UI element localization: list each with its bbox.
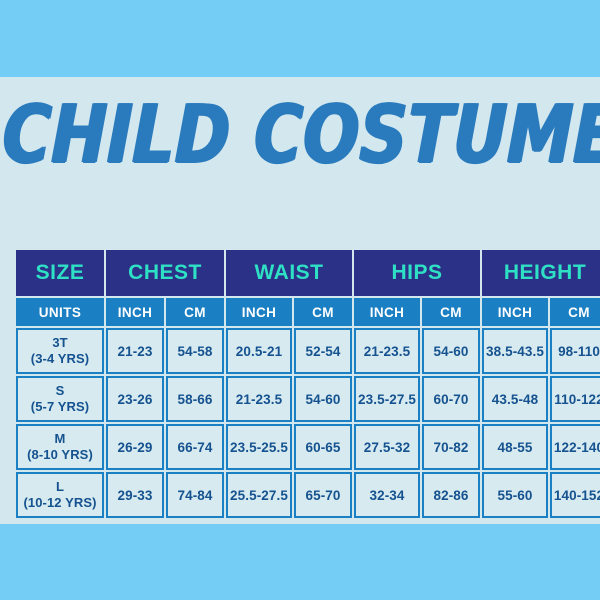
cell-size: S (5-7 YRS) (16, 376, 104, 422)
cell-height-inch: 48-55 (482, 424, 548, 470)
group-header-height: HEIGHT (482, 250, 600, 296)
table-row: 3T (3-4 YRS) 21-23 54-58 20.5-21 52-54 2… (16, 328, 600, 374)
cell-height-inch: 38.5-43.5 (482, 328, 548, 374)
cell-hips-cm: 60-70 (422, 376, 480, 422)
cell-height-cm: 140-152 (550, 472, 600, 518)
cell-height-cm: 98-110 (550, 328, 600, 374)
size-label: M (18, 431, 102, 447)
group-header-chest: CHEST (106, 250, 224, 296)
size-label: 3T (18, 335, 102, 351)
units-header-size: UNITS (16, 298, 104, 326)
cell-hips-inch: 23.5-27.5 (354, 376, 420, 422)
table-row: L (10-12 YRS) 29-33 74-84 25.5-27.5 65-7… (16, 472, 600, 518)
size-label: L (18, 479, 102, 495)
cell-hips-cm: 54-60 (422, 328, 480, 374)
size-age: (10-12 YRS) (18, 495, 102, 511)
cell-waist-cm: 52-54 (294, 328, 352, 374)
group-header-size: SIZE (16, 250, 104, 296)
table-body: 3T (3-4 YRS) 21-23 54-58 20.5-21 52-54 2… (16, 328, 600, 518)
size-chart-table: SIZE CHEST WAIST HIPS HEIGHT UNITS INCH … (14, 248, 600, 520)
cell-chest-inch: 29-33 (106, 472, 164, 518)
cell-chest-inch: 26-29 (106, 424, 164, 470)
cell-chest-inch: 23-26 (106, 376, 164, 422)
cell-waist-inch: 25.5-27.5 (226, 472, 292, 518)
cell-waist-inch: 23.5-25.5 (226, 424, 292, 470)
cell-waist-inch: 20.5-21 (226, 328, 292, 374)
cell-waist-cm: 54-60 (294, 376, 352, 422)
cell-chest-cm: 58-66 (166, 376, 224, 422)
size-label: S (18, 383, 102, 399)
cell-height-cm: 110-122 (550, 376, 600, 422)
units-header-waist-inch: INCH (226, 298, 292, 326)
size-age: (3-4 YRS) (18, 351, 102, 367)
top-accent-band (0, 0, 600, 77)
table-row: S (5-7 YRS) 23-26 58-66 21-23.5 54-60 23… (16, 376, 600, 422)
cell-hips-inch: 32-34 (354, 472, 420, 518)
cell-chest-cm: 74-84 (166, 472, 224, 518)
size-age: (5-7 YRS) (18, 399, 102, 415)
units-header-row: UNITS INCH CM INCH CM INCH CM INCH CM (16, 298, 600, 326)
cell-hips-inch: 27.5-32 (354, 424, 420, 470)
cell-hips-cm: 70-82 (422, 424, 480, 470)
cell-chest-cm: 54-58 (166, 328, 224, 374)
cell-waist-cm: 60-65 (294, 424, 352, 470)
bottom-accent-band (0, 524, 600, 600)
units-header-height-cm: CM (550, 298, 600, 326)
units-header-height-inch: INCH (482, 298, 548, 326)
table-header: SIZE CHEST WAIST HIPS HEIGHT UNITS INCH … (16, 250, 600, 326)
size-chart-page: CHILD COSTUME SIZE CHEST WAIST HIPS HEIG… (0, 0, 600, 600)
page-title-container: CHILD COSTUME (0, 96, 600, 174)
cell-size: 3T (3-4 YRS) (16, 328, 104, 374)
cell-height-inch: 43.5-48 (482, 376, 548, 422)
cell-size: L (10-12 YRS) (16, 472, 104, 518)
cell-waist-cm: 65-70 (294, 472, 352, 518)
units-header-waist-cm: CM (294, 298, 352, 326)
table-row: M (8-10 YRS) 26-29 66-74 23.5-25.5 60-65… (16, 424, 600, 470)
units-header-hips-cm: CM (422, 298, 480, 326)
units-header-hips-inch: INCH (354, 298, 420, 326)
cell-chest-inch: 21-23 (106, 328, 164, 374)
cell-height-cm: 122-140 (550, 424, 600, 470)
cell-chest-cm: 66-74 (166, 424, 224, 470)
cell-waist-inch: 21-23.5 (226, 376, 292, 422)
cell-hips-cm: 82-86 (422, 472, 480, 518)
cell-size: M (8-10 YRS) (16, 424, 104, 470)
units-header-chest-inch: INCH (106, 298, 164, 326)
size-age: (8-10 YRS) (18, 447, 102, 463)
group-header-waist: WAIST (226, 250, 352, 296)
group-header-hips: HIPS (354, 250, 480, 296)
cell-height-inch: 55-60 (482, 472, 548, 518)
group-header-row: SIZE CHEST WAIST HIPS HEIGHT (16, 250, 600, 296)
page-title: CHILD COSTUME (2, 87, 600, 182)
cell-hips-inch: 21-23.5 (354, 328, 420, 374)
units-header-chest-cm: CM (166, 298, 224, 326)
